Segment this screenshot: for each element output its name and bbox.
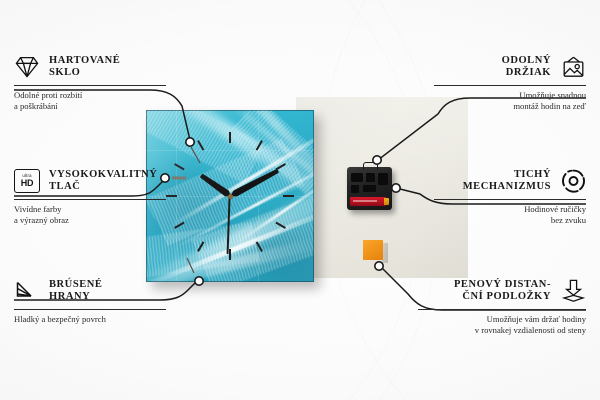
feature-desc-line1: Umožňuje snadnou [519, 90, 586, 100]
clock-tick [229, 132, 231, 143]
feature-heading: HARTOVANÉSKLO [14, 52, 166, 82]
feature-desc-line1: Umožňuje vám držať hodiny [487, 314, 586, 324]
mechanism-slot [366, 173, 375, 182]
clock-face-artwork [146, 110, 314, 282]
feature-description: Hodinové ručičkybez zvuku [434, 204, 586, 226]
feature-title-line2: MECHANIZMUS [463, 181, 551, 192]
feature-title: BRÚSENÉHRANY [49, 279, 102, 304]
feature-desc-line1: Hladký a bezpečný povrch [14, 314, 106, 324]
mechanism-slot [351, 173, 363, 182]
feature-desc-line2: a poškrábání [14, 101, 58, 111]
infographic-canvas: HARTOVANÉSKLO Odolné proti rozbitía pošk… [0, 0, 600, 400]
feature-heading: ultra HD VYSOKOKVALITNÝTLAČ [14, 166, 166, 196]
feature-divider [14, 85, 166, 86]
feature-title-line1: ODOLNÝ [502, 55, 551, 66]
feature-title-line2: HRANY [49, 291, 90, 302]
feature-title-line1: VYSOKOKVALITNÝ [49, 169, 157, 180]
feature-divider [434, 85, 586, 86]
feature-heading: PENOVÝ DISTAN-ČNÍ PODLOŽKY [418, 276, 586, 306]
clock-center-hub [228, 194, 233, 199]
picture-hanger-icon [560, 54, 586, 80]
ground-edges-icon [14, 278, 40, 304]
mechanism-slot [363, 185, 376, 192]
mechanism-hanger-lug [363, 162, 378, 170]
wall-clock-product [146, 110, 314, 282]
foam-spacer-icon [560, 278, 586, 304]
feature-desc-line1: Odolné proti rozbití [14, 90, 82, 100]
feature-desc-line2: a výrazný obraz [14, 215, 69, 225]
feature-divider [434, 199, 586, 200]
hd-badge: ultra HD [14, 169, 40, 193]
feature-desc-line2: montáž hodin na zeď [513, 101, 586, 111]
feature-divider [14, 199, 166, 200]
feature-title: VYSOKOKVALITNÝTLAČ [49, 169, 157, 194]
mechanism-slot [378, 173, 388, 185]
feature-title-line1: PENOVÝ DISTAN- [454, 279, 551, 290]
feature-title-line2: ČNÍ PODLOŽKY [462, 291, 551, 302]
feature-description: Odolné proti rozbitía poškrábání [14, 90, 166, 112]
feature-tempered-glass: HARTOVANÉSKLO Odolné proti rozbitía pošk… [14, 52, 166, 112]
feature-heading: ODOLNÝDRŽIAK [434, 52, 586, 82]
hd-badge-main-label: HD [21, 179, 34, 188]
feature-heading: BRÚSENÉHRANY [14, 276, 166, 306]
foam-spacer-pad [363, 240, 383, 260]
feature-ground-edges: BRÚSENÉHRANY Hladký a bezpečný povrch [14, 276, 166, 325]
mechanism-slot [351, 185, 359, 193]
feature-title-line2: SKLO [49, 67, 80, 78]
feature-divider [14, 309, 166, 310]
battery-positive-tip [384, 198, 389, 205]
feature-title-line2: DRŽIAK [506, 67, 551, 78]
feature-description: Umožňuje snadnoumontáž hodin na zeď [434, 90, 586, 112]
feature-description: Hladký a bezpečný povrch [14, 314, 166, 325]
gear-icon [560, 168, 586, 194]
battery-label-band [353, 200, 377, 202]
feature-high-quality-print: ultra HD VYSOKOKVALITNÝTLAČ Vivídne farb… [14, 166, 166, 226]
feature-durable-holder: ODOLNÝDRŽIAK Umožňuje snadnoumontáž hodi… [434, 52, 586, 112]
clock-tick [283, 195, 294, 197]
feature-title: PENOVÝ DISTAN-ČNÍ PODLOŽKY [454, 279, 551, 304]
feature-desc-line1: Vivídne farby [14, 204, 61, 214]
feature-heading: TICHÝMECHANIZMUS [434, 166, 586, 196]
clock-mechanism [347, 167, 392, 210]
diamond-icon [14, 54, 40, 80]
clock-tick [166, 195, 177, 197]
feature-foam-spacers: PENOVÝ DISTAN-ČNÍ PODLOŽKY Umožňuje vám … [418, 276, 586, 336]
feature-description: Vivídne farbya výrazný obraz [14, 204, 166, 226]
feature-desc-line2: bez zvuku [551, 215, 586, 225]
feature-desc-line2: v rovnakej vzdialenosti od steny [475, 325, 586, 335]
feature-title-line1: HARTOVANÉ [49, 55, 120, 66]
feature-title-line2: TLAČ [49, 181, 80, 192]
artwork-seam [146, 150, 314, 151]
feature-divider [418, 309, 586, 310]
feature-silent-mechanism: TICHÝMECHANIZMUS Hodinové ručičkybez zvu… [434, 166, 586, 226]
feature-description: Umožňuje vám držať hodinyv rovnakej vzdi… [418, 314, 586, 336]
feature-title: HARTOVANÉSKLO [49, 55, 120, 80]
ultra-hd-badge-icon: ultra HD [14, 168, 40, 194]
foam-pad-top [363, 240, 383, 260]
feature-title-line1: TICHÝ [514, 169, 551, 180]
feature-title-line1: BRÚSENÉ [49, 279, 102, 290]
feature-title: ODOLNÝDRŽIAK [502, 55, 551, 80]
feature-title: TICHÝMECHANIZMUS [463, 169, 551, 194]
clock-tick [229, 249, 231, 260]
feature-desc-line1: Hodinové ručičky [524, 204, 586, 214]
battery [350, 197, 386, 206]
